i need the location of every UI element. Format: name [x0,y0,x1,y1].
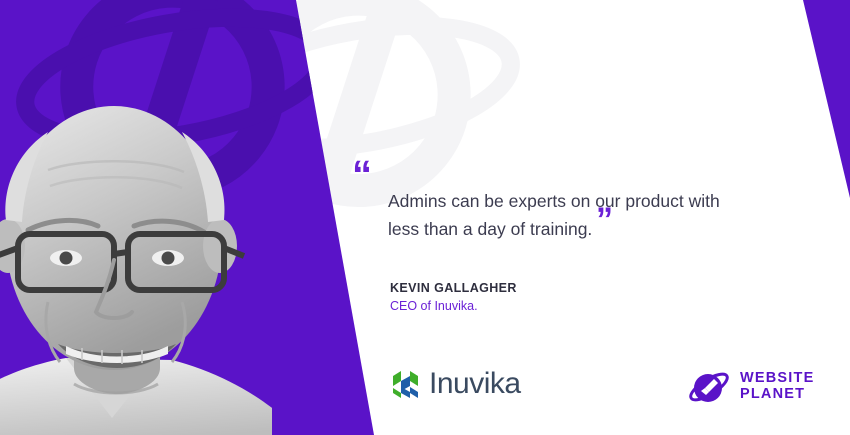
planet-rocket-icon [688,367,732,405]
attribution: KEVIN GALLAGHER CEO of Inuvika. [390,280,517,315]
quote-open-mark: “ [352,155,371,195]
author-portrait [0,0,300,435]
wp-line-2: PLANET [740,386,805,402]
wp-line-1: WEBSITE [740,370,814,386]
author-name: KEVIN GALLAGHER [390,280,517,297]
inuvika-arrow-mark-icon [390,367,424,401]
quote-close-mark: ” [596,203,612,237]
inuvika-wordmark: Inuvika [429,368,521,400]
testimonial-card: “ Admins can be experts on our product w… [0,0,850,435]
website-planet-wordmark: WEBSITE PLANET [740,370,814,402]
author-role: CEO of Inuvika. [390,297,517,315]
quote-text: Admins can be experts on our product wit… [388,187,738,243]
portrait-image [0,88,272,435]
website-planet-logo[interactable]: WEBSITE PLANET [688,367,814,405]
inuvika-logo[interactable]: Inuvika [390,367,521,401]
